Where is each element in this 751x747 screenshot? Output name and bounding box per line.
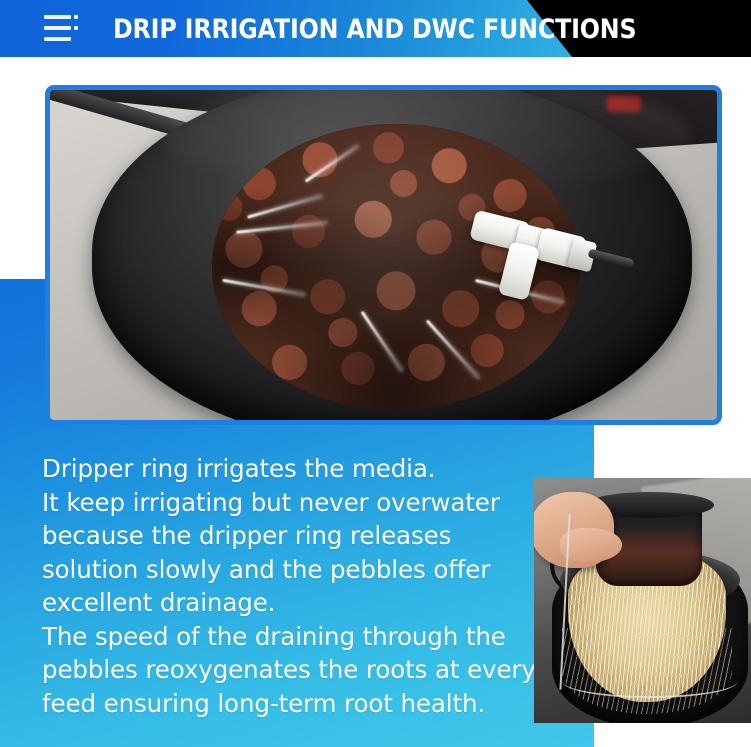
hamburger-list-icon[interactable] — [44, 15, 82, 42]
header-bar: DRIP IRRIGATION AND DWC FUNCTIONS — [0, 0, 751, 57]
main-photo — [45, 85, 722, 425]
inset-wire — [562, 664, 738, 698]
hamburger-dot — [74, 26, 78, 30]
hamburger-line — [44, 37, 71, 41]
fitting-branch — [498, 241, 540, 301]
hamburger-line — [44, 15, 71, 19]
hamburger-dot — [74, 15, 78, 19]
slide-root: DRIP IRRIGATION AND DWC FUNCTIONS Drippe… — [0, 0, 751, 747]
main-photo-inner — [50, 90, 717, 420]
push-fit-tee-fitting — [470, 208, 600, 300]
page-title: DRIP IRRIGATION AND DWC FUNCTIONS — [113, 12, 636, 48]
body-text: Dripper ring irrigates the media. It kee… — [42, 452, 542, 720]
inset-photo — [534, 478, 751, 723]
hamburger-line — [44, 26, 71, 30]
